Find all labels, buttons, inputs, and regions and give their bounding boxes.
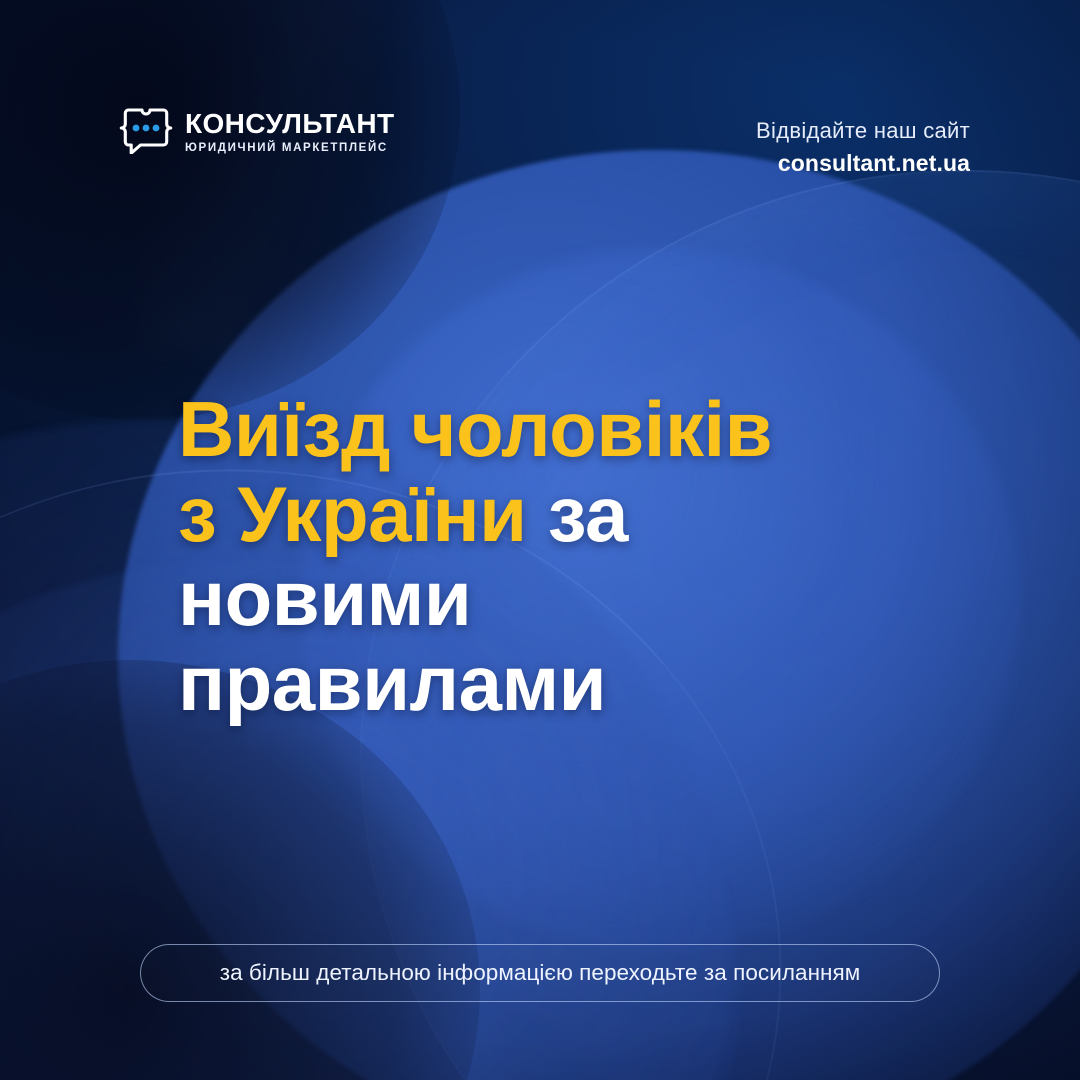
cta-label: за більш детальною інформацією переходьт…	[220, 960, 861, 986]
social-post-canvas: КОНСУЛЬТАНТ ЮРИДИЧНИЙ МАРКЕТПЛЕЙС Відвід…	[0, 0, 1080, 1080]
website-callout: Відвідайте наш сайт consultant.net.ua	[756, 118, 970, 178]
headline: Виїзд чоловіків з України за новими прав…	[178, 392, 978, 731]
website-url[interactable]: consultant.net.ua	[756, 149, 970, 178]
headline-line-2-accent: з України	[178, 470, 527, 558]
headline-line-4: правилами	[178, 646, 978, 722]
headline-line-3-text: новими	[178, 554, 471, 642]
header: КОНСУЛЬТАНТ ЮРИДИЧНИЙ МАРКЕТПЛЕЙС Відвід…	[0, 108, 1080, 198]
brand-logo[interactable]: КОНСУЛЬТАНТ ЮРИДИЧНИЙ МАРКЕТПЛЕЙС	[118, 108, 395, 155]
headline-line-2: з України за	[178, 477, 978, 553]
headline-line-4-text: правилами	[178, 639, 606, 727]
speech-bubble-three-dots-icon	[118, 108, 174, 154]
headline-line-3: новими	[178, 561, 978, 637]
website-lead-text: Відвідайте наш сайт	[756, 118, 970, 144]
brand-wordmark: КОНСУЛЬТАНТ ЮРИДИЧНИЙ МАРКЕТПЛЕЙС	[185, 108, 395, 155]
headline-line-1-text: Виїзд чоловіків	[178, 385, 772, 473]
cta-link-button[interactable]: за більш детальною інформацією переходьт…	[140, 944, 940, 1002]
headline-line-2-plain: за	[527, 470, 628, 558]
headline-line-1: Виїзд чоловіків	[178, 392, 978, 468]
brand-name: КОНСУЛЬТАНТ	[185, 110, 395, 138]
brand-tagline: ЮРИДИЧНИЙ МАРКЕТПЛЕЙС	[185, 143, 395, 155]
